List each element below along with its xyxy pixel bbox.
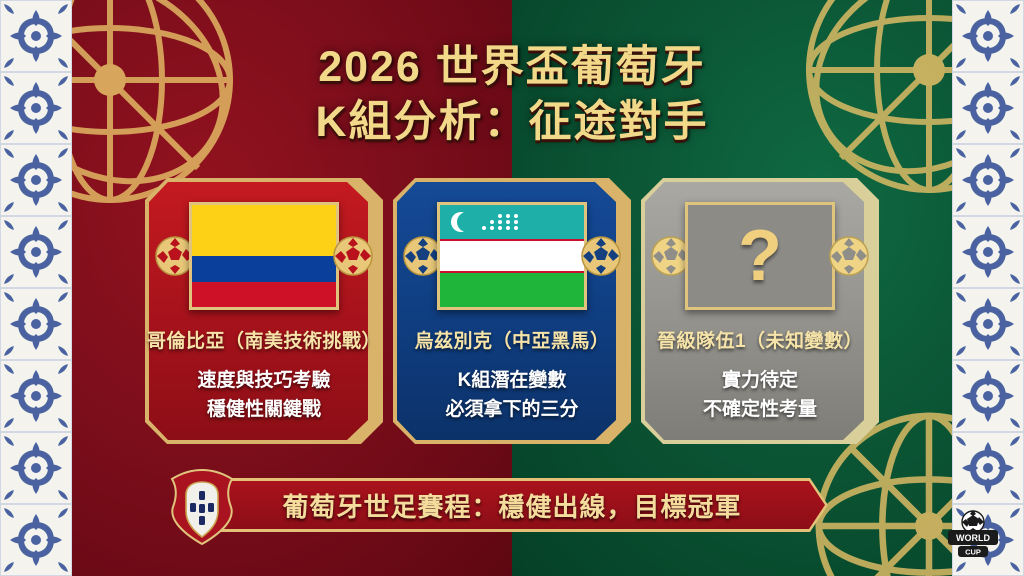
- soccer-ball-icon: [829, 236, 869, 276]
- card-note-line-1: 速度與技巧考驗: [197, 367, 330, 396]
- colombia-flag: [189, 202, 339, 310]
- opponent-cards: 哥倫比亞（南美技術挑戰） 速度與技巧考驗 穩健性關鍵戰: [0, 178, 1024, 446]
- card-notes-colombia: 速度與技巧考驗 穩健性關鍵戰: [197, 367, 330, 424]
- bottom-banner: 葡萄牙世足賽程：穩健出線，目標冠軍: [196, 478, 828, 532]
- banner-text: 葡萄牙世足賽程：穩健出線，目標冠軍: [196, 478, 828, 532]
- title-line-2: K組分析：征途對手: [0, 95, 1024, 150]
- stars-group: [482, 214, 518, 230]
- card-note-line-1: 實力待定: [703, 367, 817, 396]
- crescent-moon-icon: [451, 212, 471, 232]
- question-mark-placeholder: ?: [685, 202, 835, 310]
- flag-row-colombia: [145, 200, 383, 312]
- poster-stage: 2026 世界盃葡萄牙 K組分析：征途對手: [0, 0, 1024, 576]
- opponent-card-uzbekistan[interactable]: 烏茲別克（中亞黑馬） K組潛在變數 必須拿下的三分: [393, 178, 631, 444]
- card-notes-qualifier-1: 實力待定 不確定性考量: [703, 367, 817, 424]
- card-title-qualifier-1: 晉級隊伍1（未知變數）: [657, 326, 863, 353]
- card-notes-uzbekistan: K組潛在變數 必須拿下的三分: [445, 367, 578, 424]
- card-note-line-2: 穩健性關鍵戰: [197, 396, 330, 425]
- soccer-ball-icon: [581, 236, 621, 276]
- badge-line-2: CUP: [965, 548, 981, 557]
- opponent-card-qualifier-1[interactable]: ? 晉級隊伍1（未知變數） 實力待定 不確定性考量: [641, 178, 879, 444]
- title-line-1: 2026 世界盃葡萄牙: [0, 40, 1024, 95]
- flag-row-uzbekistan: [393, 200, 631, 312]
- poster-title: 2026 世界盃葡萄牙 K組分析：征途對手: [0, 40, 1024, 150]
- question-mark-glyph: ?: [738, 220, 782, 292]
- soccer-ball-icon: [333, 236, 373, 276]
- world-cup-badge: WORLD CUP: [938, 506, 1008, 562]
- flag-row-qualifier-1: ?: [641, 200, 879, 312]
- uzbekistan-flag: [437, 202, 587, 310]
- badge-line-1: WORLD: [956, 533, 990, 543]
- portugal-federation-crest: [166, 468, 238, 546]
- card-title-colombia: 哥倫比亞（南美技術挑戰）: [147, 326, 381, 353]
- card-note-line-2: 必須拿下的三分: [445, 396, 578, 425]
- card-title-uzbekistan: 烏茲別克（中亞黑馬）: [414, 326, 609, 353]
- card-note-line-1: K組潛在變數: [445, 367, 578, 396]
- card-note-line-2: 不確定性考量: [703, 396, 817, 425]
- opponent-card-colombia[interactable]: 哥倫比亞（南美技術挑戰） 速度與技巧考驗 穩健性關鍵戰: [145, 178, 383, 444]
